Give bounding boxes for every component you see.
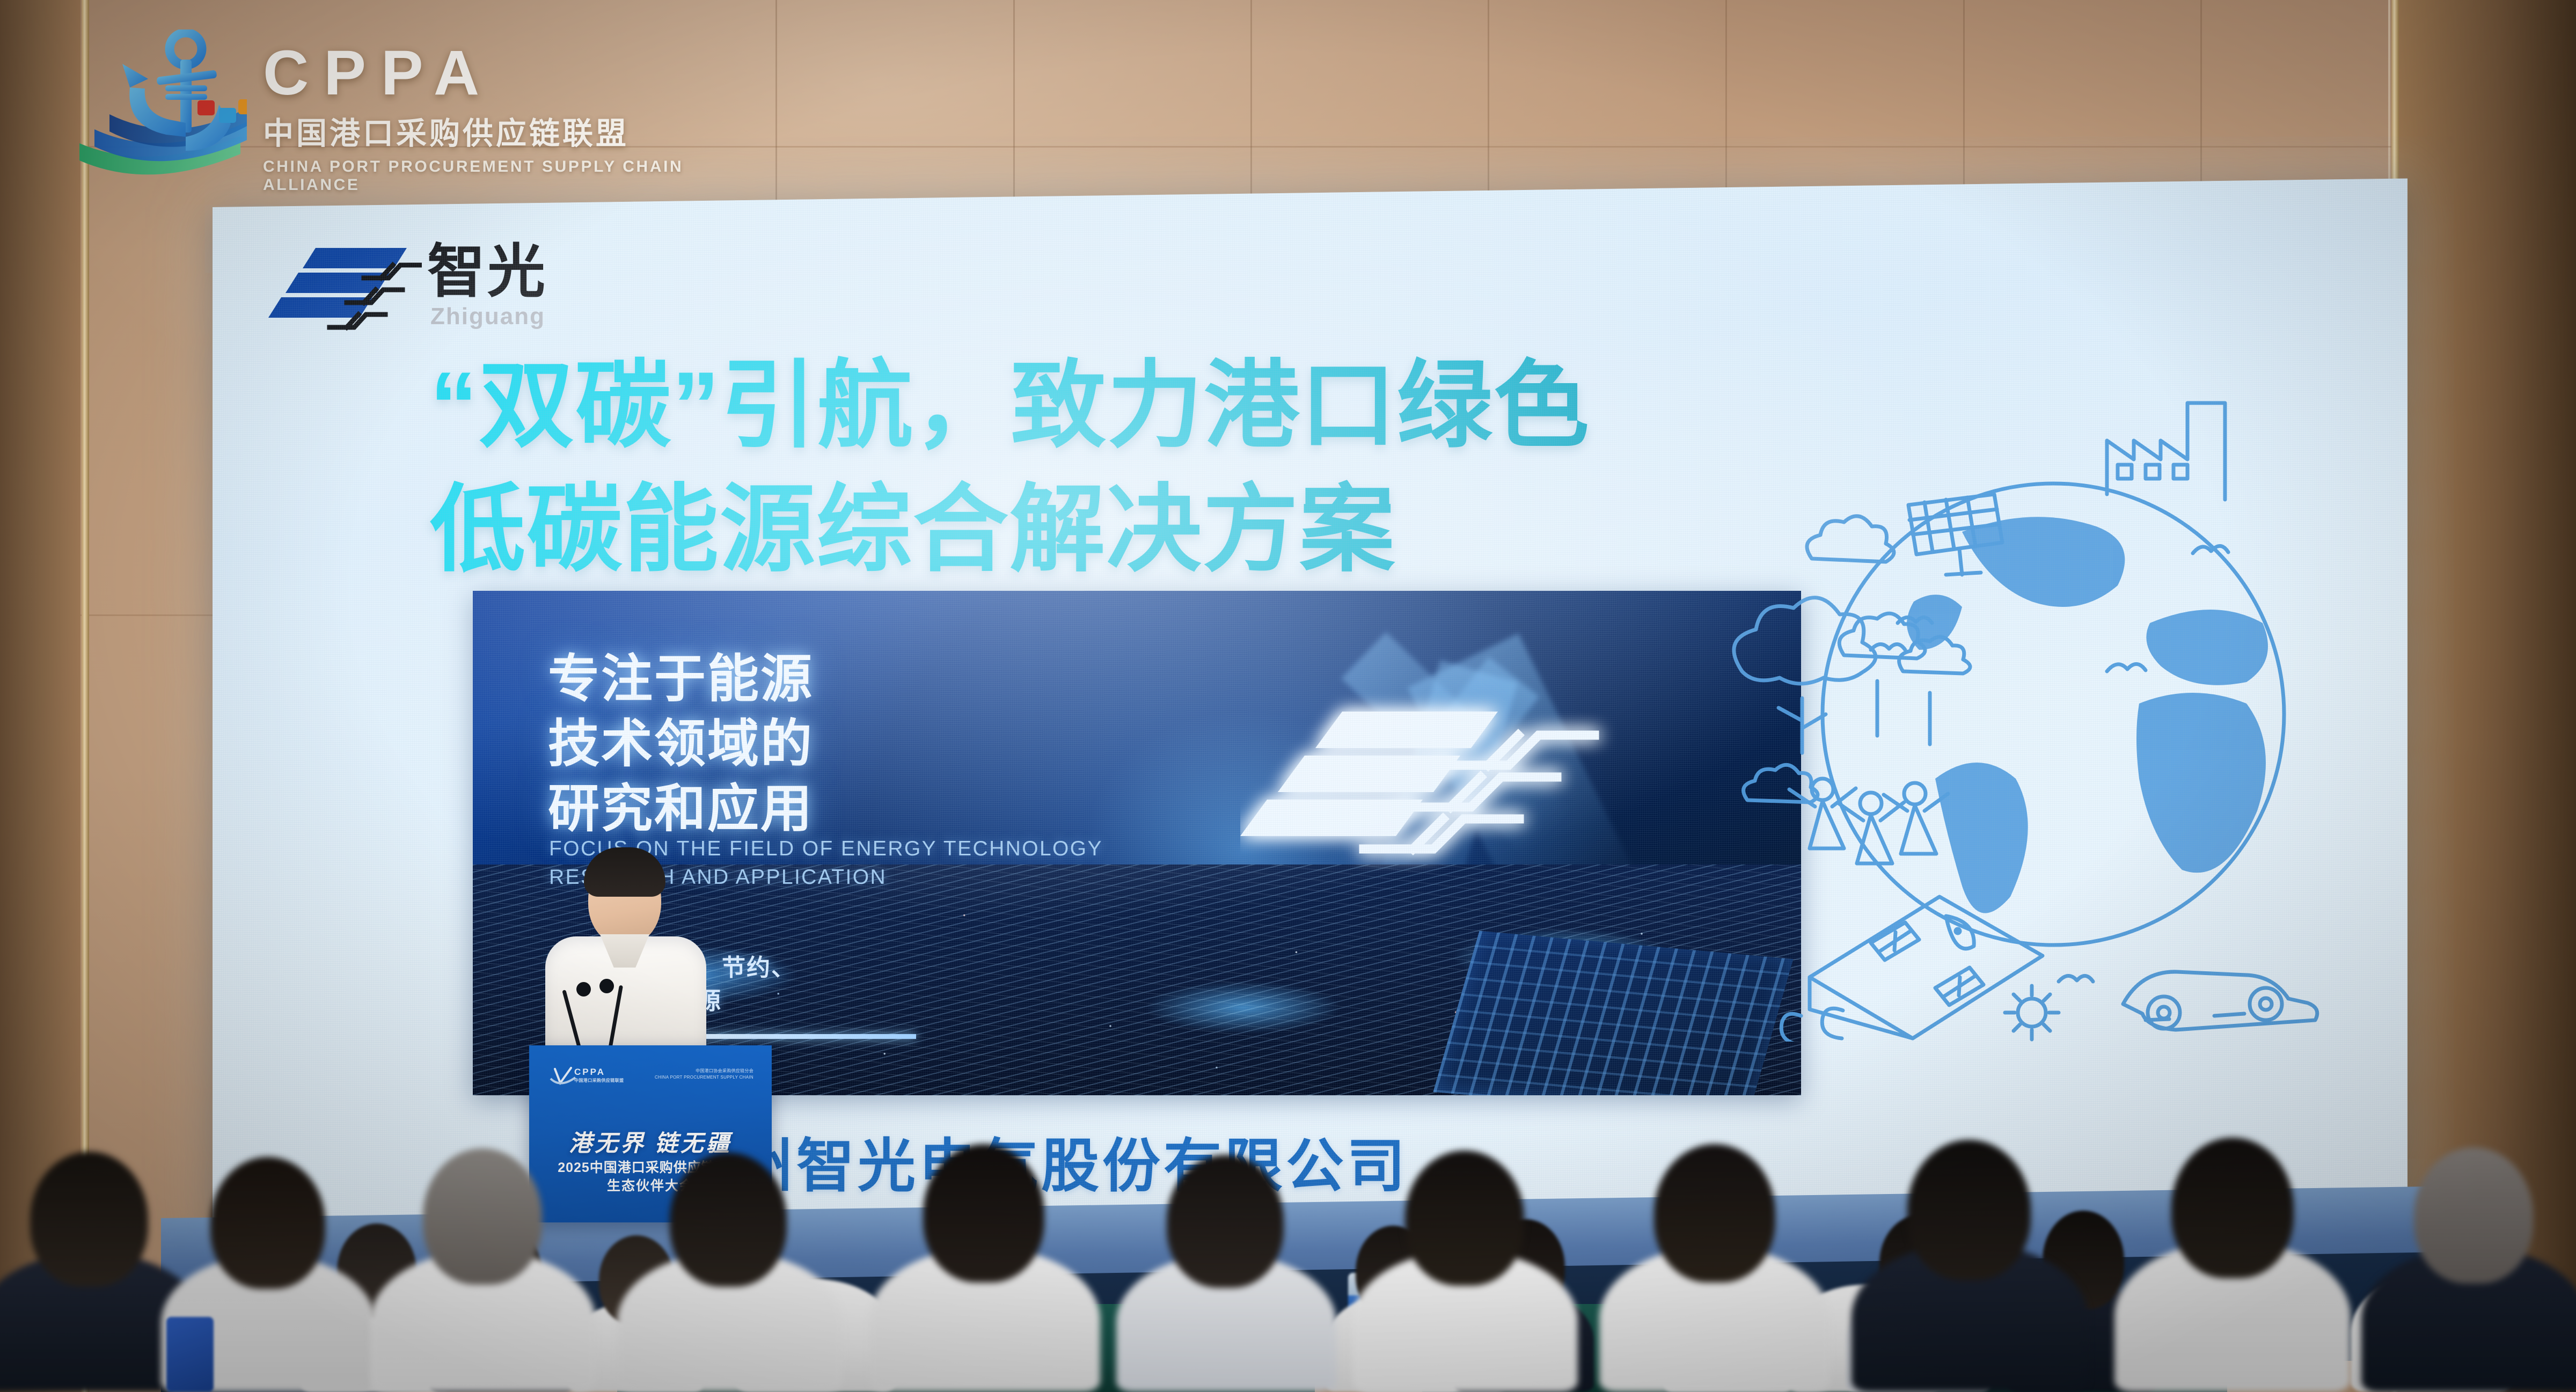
cppa-logo-text: CPPA 中国港口采购供应链联盟 CHINA PORT PROCUREMENT … — [263, 41, 708, 194]
zhiguang-slide-logo: 智光 Zhiguang — [266, 239, 588, 341]
audience-table-left — [617, 1304, 1315, 1392]
anchor-logo-icon — [70, 30, 247, 201]
zhiguang-glow-logo-icon — [1240, 690, 1648, 905]
podium-calligraphy: 港无界 链无疆 — [529, 1125, 772, 1158]
zhiguang-name: 智光 — [427, 243, 547, 301]
gold-trim-left — [82, 0, 89, 1392]
cppa-abbreviation: CPPA — [263, 41, 708, 105]
zhiguang-logo-icon — [266, 245, 422, 339]
podium-org-name: 中国港口采购供应链联盟 — [574, 1078, 624, 1083]
podium-event-line1: 2025中国港口采购供应链联盟 — [529, 1157, 772, 1176]
podium-right-text: 中国港口协会采购供应链分会 CHINA PORT PROCUREMENT SUP… — [655, 1068, 753, 1081]
cppa-wall-logo: CPPA 中国港口采购供应链联盟 CHINA PORT PROCUREMENT … — [70, 30, 714, 207]
photo-headline-line3: 研究和应用 — [548, 777, 1181, 842]
cppa-name-english: CHINA PORT PROCUREMENT SUPPLY CHAIN ALLI… — [263, 158, 708, 194]
podium: CPPA 中国港口采购供应链联盟 中国港口协会采购供应链分会 CHINA POR… — [529, 1045, 772, 1222]
company-name: 广州智光电气股份有限公司 — [674, 1119, 1408, 1203]
conference-hall-scene: CPPA 中国港口采购供应链联盟 CHINA PORT PROCUREMENT … — [0, 0, 2576, 1392]
podium-event-line2: 生态伙伴大会 — [529, 1175, 772, 1195]
wall-right-edge — [2399, 0, 2576, 1392]
wall-left-edge — [0, 0, 80, 1392]
audience-table-right — [1422, 1304, 2227, 1392]
photo-headline-line2: 技术领域的 — [548, 712, 1181, 777]
photo-headline: 专注于能源 技术领域的 研究和应用 — [548, 647, 1181, 842]
cppa-name-chinese: 中国港口采购供应链联盟 — [263, 109, 708, 153]
photo-headline-line1: 专注于能源 — [548, 647, 1181, 712]
podium-org-abbr: CPPA — [574, 1067, 605, 1078]
zhiguang-pinyin: Zhiguang — [430, 305, 545, 328]
eco-globe-illustration — [1710, 371, 2343, 1042]
speaker-hair — [584, 847, 665, 897]
podium-right-line1: 中国港口协会采购供应链分会 — [655, 1068, 753, 1074]
podium-right-line2: CHINA PORT PROCUREMENT SUPPLY CHAIN — [655, 1074, 753, 1081]
